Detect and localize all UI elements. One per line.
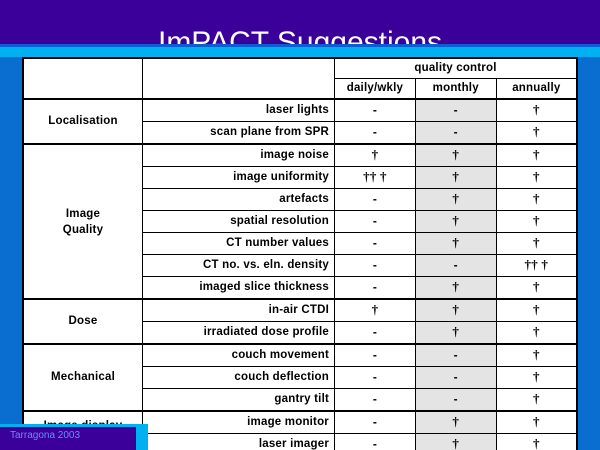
freq-cell-monthly: † [415, 144, 496, 167]
frequency-mark: - [454, 125, 458, 139]
freq-cell-annually: † [496, 434, 577, 450]
test-name-cell: laser imager [143, 434, 335, 450]
freq-cell-annually: † [496, 211, 577, 233]
frequency-mark: - [454, 392, 458, 406]
frequency-mark: † [533, 235, 540, 250]
test-name-cell: imaged slice thickness [143, 277, 335, 300]
freq-cell-annually: † [496, 299, 577, 322]
freq-cell-monthly: † [415, 189, 496, 211]
freq-cell-daily-wkly: - [335, 99, 416, 122]
freq-cell-annually: † [496, 99, 577, 122]
frequency-mark: † [452, 414, 459, 429]
test-name-cell: scan plane from SPR [143, 122, 335, 145]
freq-cell-annually: † [496, 233, 577, 255]
suggestions-table-wrapper: quality controldaily/wklymonthlyannually… [22, 57, 578, 450]
qc-suggestions-table: quality controldaily/wklymonthlyannually… [22, 57, 578, 450]
frequency-mark: - [373, 348, 377, 362]
freq-cell-annually: † [496, 389, 577, 412]
frequency-mark: - [373, 103, 377, 117]
freq-cell-daily-wkly: - [335, 189, 416, 211]
freq-cell-annually: †† † [496, 255, 577, 277]
frequency-mark: † [533, 169, 540, 184]
frequency-mark: - [373, 214, 377, 228]
freq-cell-annually: † [496, 411, 577, 434]
frequency-mark: - [454, 370, 458, 384]
frequency-mark: † [452, 436, 459, 450]
header-col-annually: annually [496, 79, 577, 100]
test-name-cell: spatial resolution [143, 211, 335, 233]
frequency-mark: - [373, 280, 377, 294]
frequency-mark: - [373, 392, 377, 406]
freq-cell-annually: † [496, 277, 577, 300]
frequency-mark: † [452, 147, 459, 162]
test-name-cell: image noise [143, 144, 335, 167]
test-name-cell: image uniformity [143, 167, 335, 189]
frequency-mark: - [373, 325, 377, 339]
test-name-cell: irradiated dose profile [143, 322, 335, 345]
frequency-mark: - [373, 437, 377, 450]
frequency-mark: † [372, 147, 379, 162]
freq-cell-monthly: † [415, 411, 496, 434]
freq-cell-annually: † [496, 144, 577, 167]
frequency-mark: † [533, 324, 540, 339]
freq-cell-monthly: † [415, 434, 496, 450]
frequency-mark: - [373, 192, 377, 206]
test-name-cell: couch movement [143, 344, 335, 367]
freq-cell-monthly: - [415, 344, 496, 367]
freq-cell-annually: † [496, 189, 577, 211]
footer-label: Tarragona 2003 [10, 430, 80, 441]
freq-cell-daily-wkly: - [335, 122, 416, 145]
frequency-mark: † [533, 302, 540, 317]
frequency-mark: - [373, 258, 377, 272]
freq-cell-monthly: - [415, 99, 496, 122]
table-row: ImageQualityimage noise††† [23, 144, 577, 167]
table-row: Localisationlaser lights--† [23, 99, 577, 122]
frequency-mark: † [452, 279, 459, 294]
freq-cell-monthly: † [415, 167, 496, 189]
frequency-mark: † [533, 213, 540, 228]
frequency-mark: †† † [363, 169, 387, 184]
freq-cell-daily-wkly: †† † [335, 167, 416, 189]
table-row: Mechanicalcouch movement--† [23, 344, 577, 367]
freq-cell-monthly: - [415, 389, 496, 412]
freq-cell-monthly: - [415, 367, 496, 389]
frequency-mark: † [372, 302, 379, 317]
table-header-row-top: quality control [23, 58, 577, 79]
frequency-mark: † [533, 436, 540, 450]
freq-cell-daily-wkly: - [335, 211, 416, 233]
header-quality-control: quality control [335, 58, 578, 79]
freq-cell-monthly: † [415, 299, 496, 322]
frequency-mark: - [454, 258, 458, 272]
freq-cell-daily-wkly: - [335, 277, 416, 300]
freq-cell-daily-wkly: - [335, 255, 416, 277]
table-row: Dosein-air CTDI††† [23, 299, 577, 322]
frequency-mark: † [452, 235, 459, 250]
freq-cell-annually: † [496, 167, 577, 189]
frequency-mark: † [452, 213, 459, 228]
frequency-mark: - [373, 415, 377, 429]
frequency-mark: † [533, 414, 540, 429]
frequency-mark: - [373, 125, 377, 139]
freq-cell-monthly: † [415, 277, 496, 300]
freq-cell-daily-wkly: - [335, 389, 416, 412]
row-group-label: Localisation [23, 99, 143, 144]
frequency-mark: † [533, 347, 540, 362]
frequency-mark: † [533, 279, 540, 294]
test-name-cell: laser lights [143, 99, 335, 122]
row-group-label-line: Quality [24, 222, 142, 238]
header-group-blank [23, 58, 143, 99]
header-col-monthly: monthly [415, 79, 496, 100]
test-name-cell: couch deflection [143, 367, 335, 389]
frequency-mark: - [373, 236, 377, 250]
header-test-blank [143, 58, 335, 99]
test-name-cell: in-air CTDI [143, 299, 335, 322]
freq-cell-daily-wkly: - [335, 367, 416, 389]
row-group-label-line: Image [24, 206, 142, 222]
freq-cell-daily-wkly: † [335, 144, 416, 167]
frequency-mark: † [533, 191, 540, 206]
freq-cell-daily-wkly: - [335, 434, 416, 450]
footer-accent-tab [136, 424, 148, 450]
row-group-label: ImageQuality [23, 144, 143, 299]
freq-cell-monthly: † [415, 211, 496, 233]
test-name-cell: artefacts [143, 189, 335, 211]
freq-cell-annually: † [496, 344, 577, 367]
frequency-mark: - [454, 103, 458, 117]
freq-cell-daily-wkly: - [335, 411, 416, 434]
freq-cell-monthly: - [415, 122, 496, 145]
frequency-mark: † [533, 369, 540, 384]
frequency-mark: † [452, 302, 459, 317]
frequency-mark: † [533, 102, 540, 117]
freq-cell-monthly: - [415, 255, 496, 277]
frequency-mark: † [533, 124, 540, 139]
frequency-mark: † [533, 391, 540, 406]
row-group-label: Mechanical [23, 344, 143, 411]
freq-cell-annually: † [496, 367, 577, 389]
test-name-cell: gantry tilt [143, 389, 335, 412]
freq-cell-annually: † [496, 322, 577, 345]
freq-cell-daily-wkly: - [335, 233, 416, 255]
freq-cell-annually: † [496, 122, 577, 145]
frequency-mark: † [452, 169, 459, 184]
frequency-mark: - [454, 348, 458, 362]
frequency-mark: † [452, 191, 459, 206]
frequency-mark: † [533, 147, 540, 162]
header-col-daily-wkly: daily/wkly [335, 79, 416, 100]
test-name-cell: image monitor [143, 411, 335, 434]
title-underline-accent [0, 47, 600, 57]
frequency-mark: † [452, 324, 459, 339]
test-name-cell: CT no. vs. eln. density [143, 255, 335, 277]
frequency-mark: - [373, 370, 377, 384]
freq-cell-daily-wkly: - [335, 344, 416, 367]
freq-cell-daily-wkly: - [335, 322, 416, 345]
freq-cell-monthly: † [415, 322, 496, 345]
freq-cell-monthly: † [415, 233, 496, 255]
row-group-label: Dose [23, 299, 143, 344]
freq-cell-daily-wkly: † [335, 299, 416, 322]
slide: ImPACT Suggestions quality controldaily/… [0, 0, 600, 450]
frequency-mark: †† † [525, 257, 549, 272]
test-name-cell: CT number values [143, 233, 335, 255]
